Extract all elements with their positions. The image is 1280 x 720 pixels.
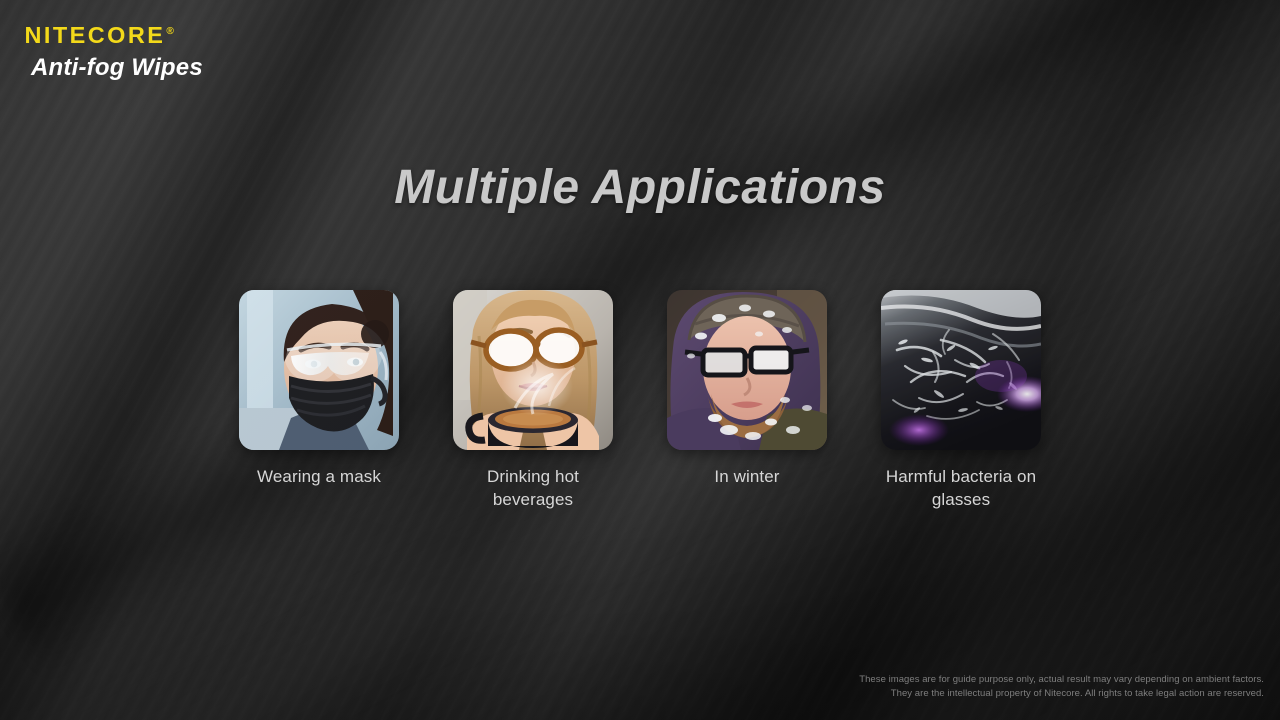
application-card-row: Wearing a mask: [0, 290, 1280, 512]
photo-bearded-man-in-snow: [667, 290, 827, 450]
card-caption: In winter: [660, 466, 835, 489]
application-card-wearing-a-mask[interactable]: Wearing a mask: [239, 290, 399, 489]
application-card-harmful-bacteria-on-glasses[interactable]: Harmful bacteria on glasses: [881, 290, 1041, 512]
product-name-label: Anti-fog Wipes: [31, 56, 203, 80]
brand-logo-text: NITECORE®: [25, 24, 174, 47]
disclaimer-line-1: These images are for guide purpose only,…: [859, 673, 1264, 688]
brand-lockup: NITECORE® Anti-fog Wipes: [26, 24, 203, 80]
photo-woman-with-hot-coffee: [453, 290, 613, 450]
thumbnail-in-winter[interactable]: [667, 290, 827, 450]
photo-microscopic-lens-surface: [881, 290, 1041, 450]
card-caption: Wearing a mask: [232, 466, 407, 489]
application-card-in-winter[interactable]: In winter: [667, 290, 827, 489]
registered-trademark-icon: ®: [166, 26, 174, 37]
thumbnail-harmful-bacteria-on-glasses[interactable]: [881, 290, 1041, 450]
thumbnail-drinking-hot-beverages[interactable]: [453, 290, 613, 450]
brand-name-label: NITECORE: [25, 22, 166, 48]
photo-woman-in-black-mask: [239, 290, 399, 450]
disclaimer-line-2: They are the intellectual property of Ni…: [859, 687, 1264, 702]
thumbnail-wearing-a-mask[interactable]: [239, 290, 399, 450]
card-caption: Harmful bacteria on glasses: [874, 466, 1049, 512]
application-card-drinking-hot-beverages[interactable]: Drinking hot beverages: [453, 290, 613, 512]
card-caption: Drinking hot beverages: [446, 466, 621, 512]
page-title: Multiple Applications: [0, 160, 1280, 215]
disclaimer-footer: These images are for guide purpose only,…: [859, 673, 1264, 702]
